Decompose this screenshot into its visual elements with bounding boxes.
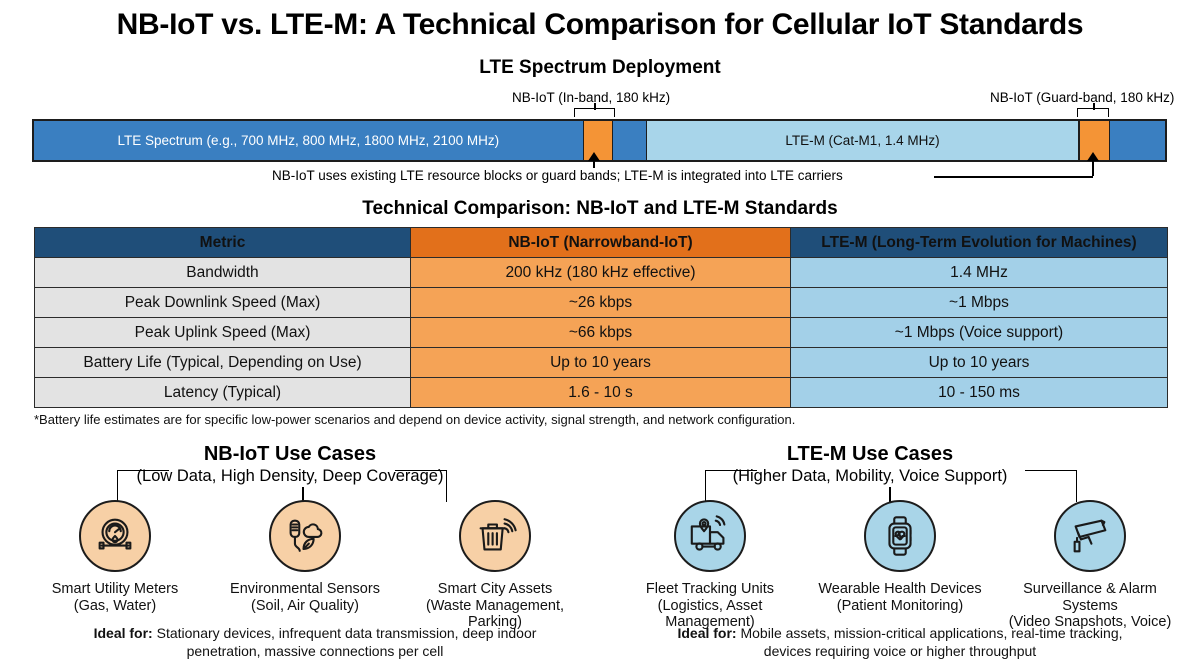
table-cell: Battery Life (Typical, Depending on Use) — [35, 348, 411, 378]
nbiot-use-cases-title: NB-IoT Use Cases — [70, 443, 510, 466]
waste-bin-icon — [459, 500, 531, 572]
table-row: Bandwidth200 kHz (180 kHz effective)1.4 … — [35, 258, 1168, 288]
environmental-sensor-icon — [269, 500, 341, 572]
gas-meter-icon — [79, 500, 151, 572]
spectrum-note: NB-IoT uses existing LTE resource blocks… — [272, 168, 847, 183]
table-row: Peak Downlink Speed (Max)~26 kbps~1 Mbps — [35, 288, 1168, 318]
security-camera-icon — [1054, 500, 1126, 572]
use-case-item: Environmental Sensors (Soil, Air Quality… — [210, 500, 400, 631]
fleet-truck-icon — [674, 500, 746, 572]
table-header-nbiot: NB-IoT (Narrowband-IoT) — [411, 228, 791, 258]
smartwatch-heart-icon — [864, 500, 936, 572]
ltem-ideal-for: Ideal for: Mobile assets, mission-critic… — [610, 625, 1190, 660]
guardband-arrow-line — [1092, 160, 1094, 176]
callout-guardband-label: NB-IoT (Guard-band, 180 kHz) — [990, 90, 1174, 105]
spectrum-segment-label: LTE Spectrum (e.g., 700 MHz, 800 MHz, 18… — [117, 133, 499, 148]
use-case-label: Surveillance & Alarm Systems (Video Snap… — [995, 581, 1185, 631]
ltem-connector-left — [705, 470, 757, 502]
table-cell: Peak Downlink Speed (Max) — [35, 288, 411, 318]
ltem-ideal-text: Mobile assets, mission-critical applicat… — [737, 625, 1123, 659]
nbiot-icon-row: Smart Utility Meters (Gas, Water)Environ… — [20, 500, 590, 631]
page-title: NB-IoT vs. LTE-M: A Technical Comparison… — [0, 8, 1200, 42]
use-case-label: Wearable Health Devices (Patient Monitor… — [818, 581, 981, 614]
use-case-label: Fleet Tracking Units (Logistics, Asset M… — [615, 581, 805, 631]
use-case-item: Surveillance & Alarm Systems (Video Snap… — [995, 500, 1185, 631]
table-footnote: *Battery life estimates are for specific… — [34, 412, 795, 427]
spectrum-segment-2 — [613, 121, 646, 160]
guardband-bracket — [1077, 108, 1109, 117]
use-case-label: Environmental Sensors (Soil, Air Quality… — [230, 581, 380, 614]
use-case-item: Fleet Tracking Units (Logistics, Asset M… — [615, 500, 805, 631]
infographic-root: NB-IoT vs. LTE-M: A Technical Comparison… — [0, 0, 1200, 670]
use-case-item: Smart City Assets (Waste Management, Par… — [400, 500, 590, 631]
use-case-item: Smart Utility Meters (Gas, Water) — [20, 500, 210, 631]
table-header-metric: Metric — [35, 228, 411, 258]
spectrum-segment-3: LTE-M (Cat-M1, 1.4 MHz) — [646, 121, 1079, 160]
nbiot-ideal-label: Ideal for: — [94, 625, 153, 641]
table-cell: Up to 10 years — [411, 348, 791, 378]
table-header-row: Metric NB-IoT (Narrowband-IoT) LTE-M (Lo… — [35, 228, 1168, 258]
ltem-ideal-label: Ideal for: — [677, 625, 736, 641]
table-cell: ~26 kbps — [411, 288, 791, 318]
table-row: Latency (Typical)1.6 - 10 s10 - 150 ms — [35, 378, 1168, 408]
nbiot-ideal-for: Ideal for: Stationary devices, infrequen… — [30, 625, 600, 660]
table-cell: 200 kHz (180 kHz effective) — [411, 258, 791, 288]
comparison-table: Metric NB-IoT (Narrowband-IoT) LTE-M (Lo… — [34, 227, 1168, 408]
use-case-item: Wearable Health Devices (Patient Monitor… — [805, 500, 995, 631]
ltem-connector-right — [1025, 470, 1077, 502]
table-cell: 10 - 150 ms — [791, 378, 1168, 408]
use-case-label: Smart City Assets (Waste Management, Par… — [400, 581, 590, 631]
table-cell: Peak Uplink Speed (Max) — [35, 318, 411, 348]
spectrum-note-connector — [934, 176, 1093, 178]
table-cell: ~66 kbps — [411, 318, 791, 348]
table-header-ltem: LTE-M (Long-Term Evolution for Machines) — [791, 228, 1168, 258]
table-cell: ~1 Mbps (Voice support) — [791, 318, 1168, 348]
table-cell: Up to 10 years — [791, 348, 1168, 378]
spectrum-section-title: LTE Spectrum Deployment — [0, 57, 1200, 79]
nbiot-connector-right — [395, 470, 447, 502]
nbiot-connector-left — [117, 470, 169, 502]
table-cell: 1.4 MHz — [791, 258, 1168, 288]
use-case-label: Smart Utility Meters (Gas, Water) — [52, 581, 179, 614]
ltem-icon-row: Fleet Tracking Units (Logistics, Asset M… — [615, 500, 1185, 631]
table-row: Battery Life (Typical, Depending on Use)… — [35, 348, 1168, 378]
table-cell: 1.6 - 10 s — [411, 378, 791, 408]
spectrum-segment-0: LTE Spectrum (e.g., 700 MHz, 800 MHz, 18… — [34, 121, 583, 160]
callout-inband-label: NB-IoT (In-band, 180 kHz) — [512, 90, 670, 105]
table-body: Bandwidth200 kHz (180 kHz effective)1.4 … — [35, 258, 1168, 408]
table-cell: Bandwidth — [35, 258, 411, 288]
inband-bracket — [574, 108, 615, 117]
table-section-title: Technical Comparison: NB-IoT and LTE-M S… — [0, 198, 1200, 220]
table-row: Peak Uplink Speed (Max)~66 kbps~1 Mbps (… — [35, 318, 1168, 348]
ltem-use-cases-title: LTE-M Use Cases — [650, 443, 1090, 466]
table-cell: Latency (Typical) — [35, 378, 411, 408]
nbiot-ideal-text: Stationary devices, infrequent data tran… — [153, 625, 537, 659]
spectrum-segment-label: LTE-M (Cat-M1, 1.4 MHz) — [785, 133, 939, 148]
spectrum-segment-5 — [1110, 121, 1165, 160]
table-cell: ~1 Mbps — [791, 288, 1168, 318]
